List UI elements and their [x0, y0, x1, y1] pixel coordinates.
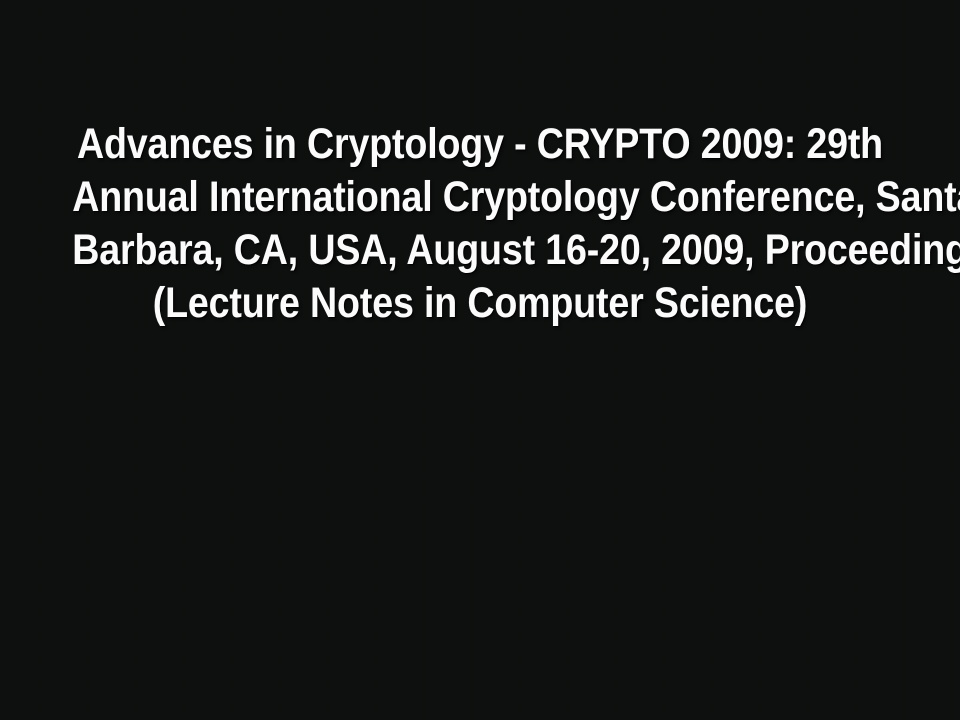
cover-empty-lower-area — [0, 340, 960, 720]
book-cover-card: Advances in Cryptology - CRYPTO 2009: 29… — [0, 0, 960, 720]
title-line-1: Advances in Cryptology - CRYPTO 2009: 29… — [72, 118, 888, 171]
title-line-3: Barbara, CA, USA, August 16-20, 2009, Pr… — [72, 224, 888, 277]
title-line-4: (Lecture Notes in Computer Science) — [72, 277, 888, 330]
title-line-2: Annual International Cryptology Conferen… — [72, 171, 888, 224]
book-title-block: Advances in Cryptology - CRYPTO 2009: 29… — [0, 118, 960, 330]
